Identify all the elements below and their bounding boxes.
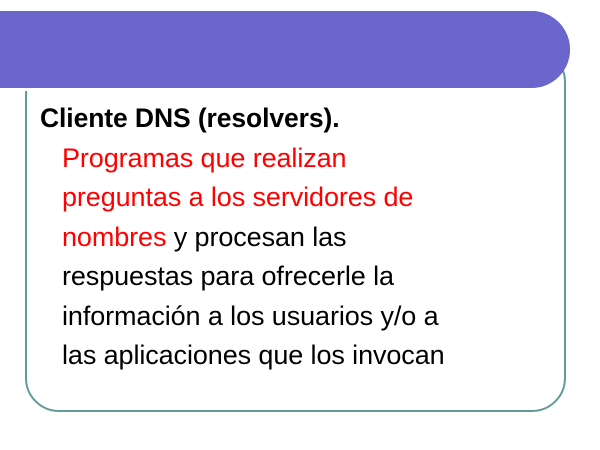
body-line-6: las aplicaciones que los invocan [38,336,558,376]
body-line-3-red: nombres [62,222,166,252]
slide-text-body: Cliente DNS (resolvers). Programas que r… [38,99,558,376]
banner-top-gap [0,0,600,11]
body-line-3-black: y procesan las [166,222,346,252]
body-line-6-black: las aplicaciones que los invocan [62,340,445,370]
body-line-4: respuestas para ofrecerle la [38,257,558,297]
body-line-3: nombres y procesan las [38,218,558,258]
body-line-2: preguntas a los servidores de [38,178,558,218]
body-line-2-red: preguntas a los servidores de [62,182,413,212]
slide-canvas: Cliente DNS (resolvers). Programas que r… [0,0,600,450]
body-line-1: Programas que realizan [38,139,558,179]
slide-heading: Cliente DNS (resolvers). [38,99,558,139]
body-line-5: información a los usuarios y/o a [38,297,558,337]
body-line-5-black: información a los usuarios y/o a [62,301,439,331]
body-line-4-black: respuestas para ofrecerle la [62,261,394,291]
body-line-1-red: Programas que realizan [62,143,346,173]
